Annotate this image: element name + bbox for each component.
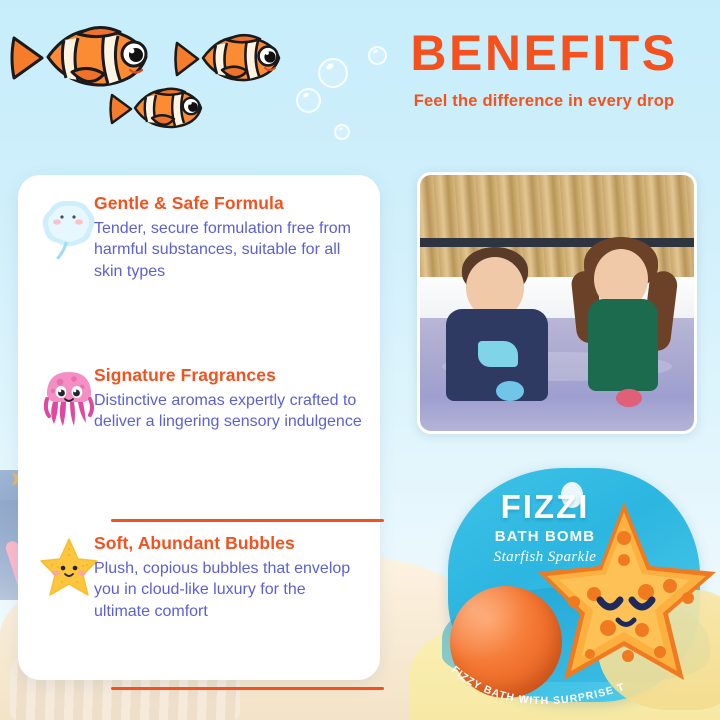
photo-blue-bath-bomb (496, 381, 524, 401)
benefit-text-block: Soft, Abundant Bubbles Plush, copious bu… (94, 533, 366, 622)
jellyfish-icon (40, 369, 98, 431)
product-type: BATH BOMB (470, 528, 620, 545)
benefit-divider (111, 519, 384, 522)
cotton-cloud-icon (40, 197, 98, 259)
header: BENEFITS Feel the difference in every dr… (382, 28, 706, 111)
starfish-icon (40, 537, 98, 599)
bubble-icon (296, 88, 321, 113)
benefit-title: Signature Fragrances (94, 365, 366, 386)
photo-shirt-graphic (478, 341, 518, 367)
clownfish-icon (172, 28, 287, 88)
benefit-text-block: Gentle & Safe Formula Tender, secure for… (94, 193, 366, 282)
product-tag-text: FIZZI BATH BOMB Starfish Sparkle (470, 490, 620, 566)
product-tag: FIZZI BATH BOMB Starfish Sparkle FIZZY B… (448, 468, 720, 720)
benefit-description: Plush, copious bubbles that envelop you … (94, 558, 366, 622)
product-tagline-curved: FIZZY BATH WITH SURPRISE TOY INSIDE (442, 644, 642, 720)
photo-child-boy (444, 247, 554, 397)
photo-child-girl (570, 237, 688, 399)
page-subtitle: Feel the difference in every drop (382, 92, 706, 111)
product-brand: FIZZI (470, 490, 620, 523)
product-variant: Starfish Sparkle (470, 549, 620, 566)
lifestyle-photo (417, 172, 697, 434)
benefit-description: Tender, secure formulation free from har… (94, 218, 366, 282)
benefit-text-block: Signature Fragrances Distinctive aromas … (94, 365, 366, 433)
benefit-title: Gentle & Safe Formula (94, 193, 366, 214)
benefit-description: Distinctive aromas expertly crafted to d… (94, 390, 366, 433)
poster-canvas: BENEFITS Feel the difference in every dr… (0, 0, 720, 720)
benefits-card: Gentle & Safe Formula Tender, secure for… (18, 175, 380, 680)
clownfish-icon (108, 82, 208, 134)
photo-red-bath-bomb (616, 389, 642, 407)
product-tagline-text: FIZZY BATH WITH SURPRISE TOY INSIDE (442, 644, 626, 707)
bubble-icon (318, 58, 348, 88)
benefit-title: Soft, Abundant Bubbles (94, 533, 366, 554)
page-title: BENEFITS (382, 28, 706, 78)
benefit-divider (111, 687, 384, 690)
bubble-icon (334, 124, 350, 140)
